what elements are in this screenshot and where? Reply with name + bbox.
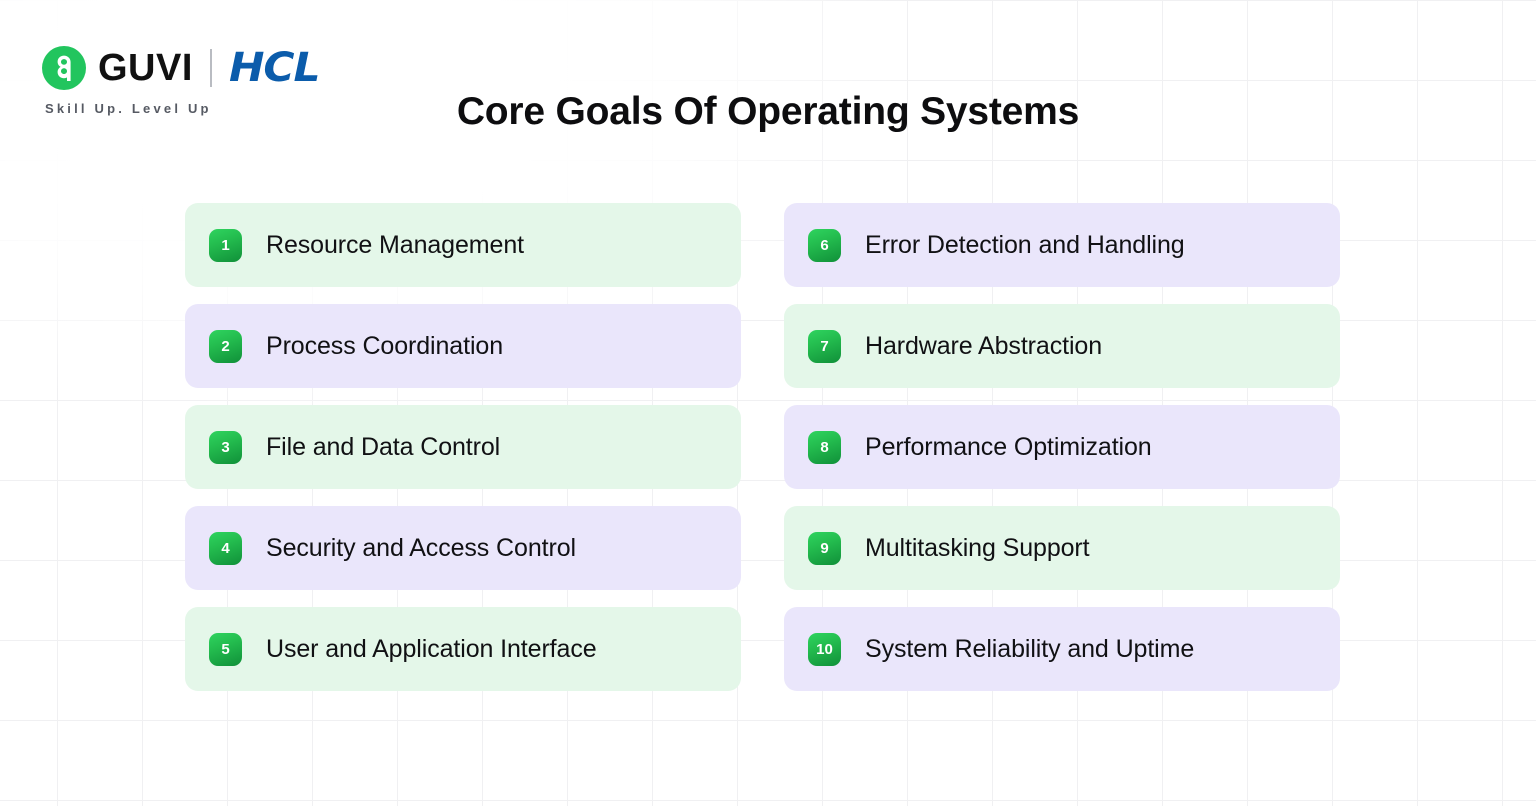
goal-label: Hardware Abstraction bbox=[865, 332, 1102, 361]
page-title: Core Goals Of Operating Systems bbox=[0, 90, 1536, 134]
goals-grid: 1Resource Management2Process Coordinatio… bbox=[185, 203, 1340, 691]
goal-label: Multitasking Support bbox=[865, 534, 1090, 563]
goal-label: User and Application Interface bbox=[266, 635, 597, 664]
slide-canvas: GUVI HCL Skill Up. Level Up Core Goals O… bbox=[0, 0, 1536, 806]
goal-label: Security and Access Control bbox=[266, 534, 576, 563]
brand-logo-row: GUVI HCL bbox=[42, 44, 314, 92]
goal-card[interactable]: 3File and Data Control bbox=[185, 405, 741, 489]
goal-number-badge: 1 bbox=[209, 229, 242, 262]
goal-card[interactable]: 7Hardware Abstraction bbox=[784, 304, 1340, 388]
goal-number-badge: 8 bbox=[808, 431, 841, 464]
goal-card[interactable]: 9Multitasking Support bbox=[784, 506, 1340, 590]
goal-number-badge: 4 bbox=[209, 532, 242, 565]
goal-label: System Reliability and Uptime bbox=[865, 635, 1194, 664]
goal-label: File and Data Control bbox=[266, 433, 500, 462]
goals-left-column: 1Resource Management2Process Coordinatio… bbox=[185, 203, 741, 691]
goal-number-badge: 6 bbox=[808, 229, 841, 262]
goal-card[interactable]: 4Security and Access Control bbox=[185, 506, 741, 590]
goal-label: Performance Optimization bbox=[865, 433, 1152, 462]
goal-card[interactable]: 6Error Detection and Handling bbox=[784, 203, 1340, 287]
goal-number-badge: 10 bbox=[808, 633, 841, 666]
goal-card[interactable]: 2Process Coordination bbox=[185, 304, 741, 388]
goal-number-badge: 5 bbox=[209, 633, 242, 666]
goal-label: Error Detection and Handling bbox=[865, 231, 1185, 260]
goal-card[interactable]: 5User and Application Interface bbox=[185, 607, 741, 691]
goal-label: Process Coordination bbox=[266, 332, 503, 361]
goal-card[interactable]: 1Resource Management bbox=[185, 203, 741, 287]
guvi-circle-g-icon bbox=[42, 46, 86, 90]
goal-number-badge: 9 bbox=[808, 532, 841, 565]
vertical-divider-icon bbox=[210, 49, 212, 87]
guvi-logo: GUVI bbox=[42, 46, 193, 90]
goal-number-badge: 3 bbox=[209, 431, 242, 464]
hcl-wordmark: HCL bbox=[229, 48, 319, 88]
guvi-wordmark: GUVI bbox=[98, 49, 193, 87]
goal-card[interactable]: 8Performance Optimization bbox=[784, 405, 1340, 489]
goals-right-column: 6Error Detection and Handling7Hardware A… bbox=[784, 203, 1340, 691]
goal-label: Resource Management bbox=[266, 231, 524, 260]
goal-card[interactable]: 10System Reliability and Uptime bbox=[784, 607, 1340, 691]
goal-number-badge: 7 bbox=[808, 330, 841, 363]
goal-number-badge: 2 bbox=[209, 330, 242, 363]
